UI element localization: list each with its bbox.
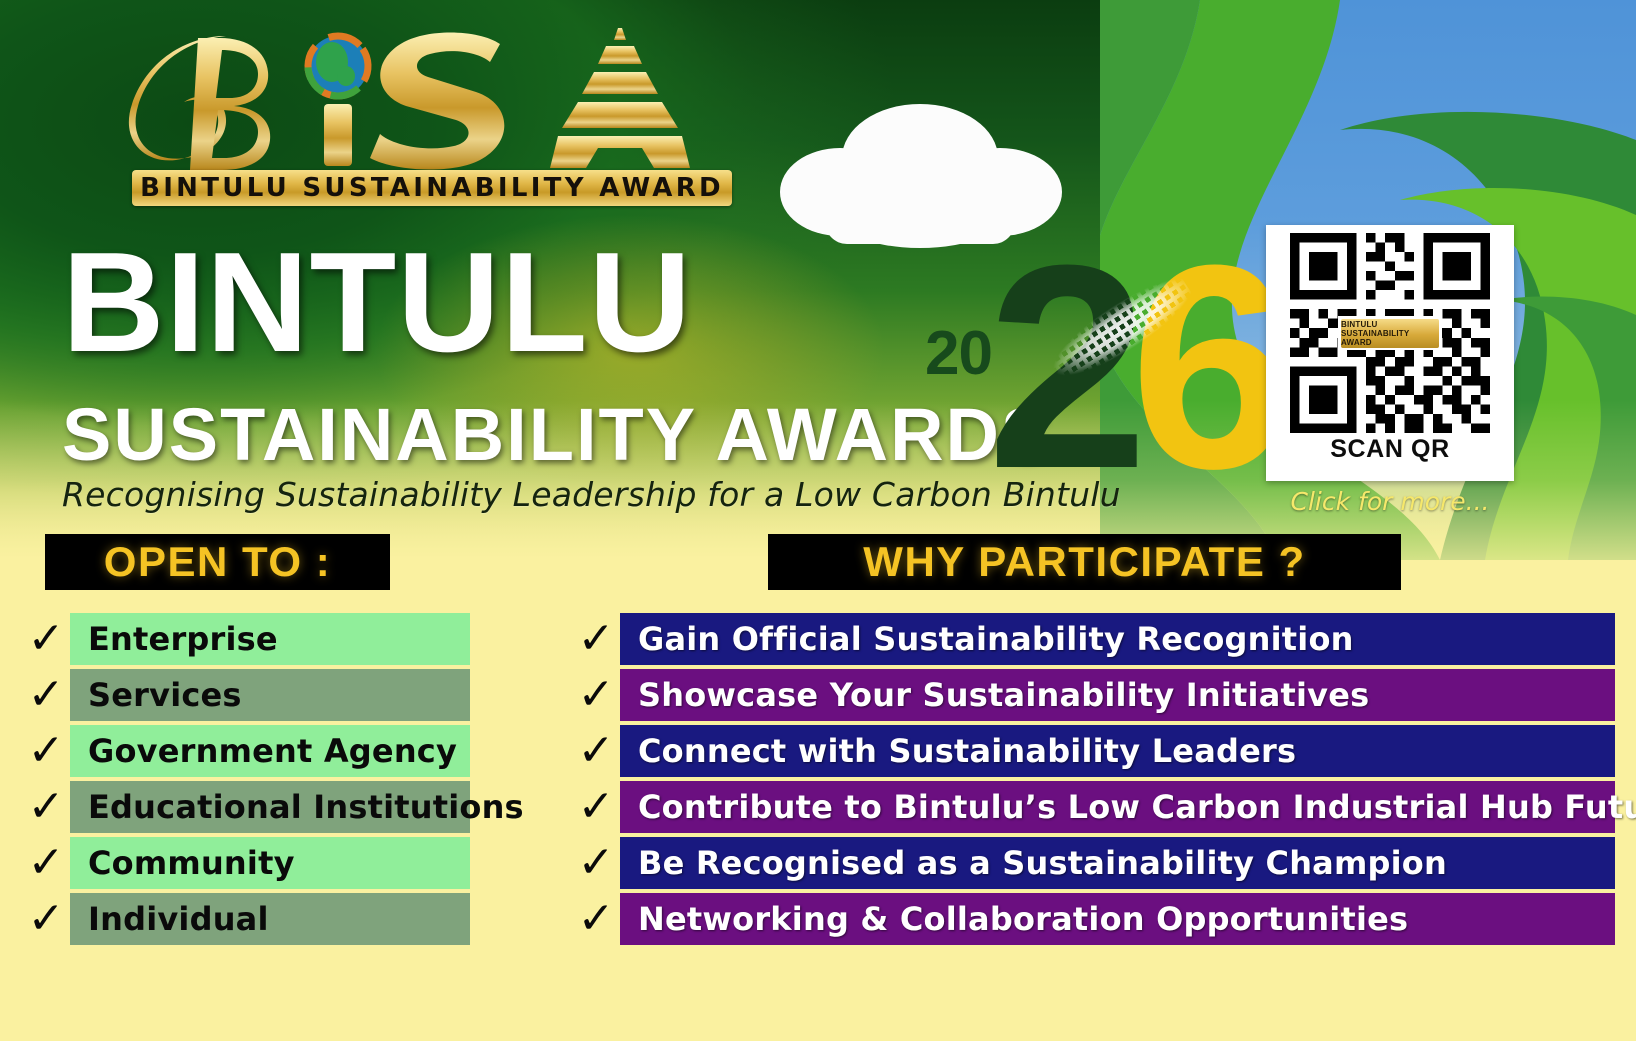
list-item-label: Enterprise <box>88 620 278 658</box>
year-digit-2: 2 <box>987 222 1138 512</box>
list-item: ✓Community <box>22 837 472 889</box>
why-participate-list: ✓Gain Official Sustainability Recognitio… <box>572 613 1617 949</box>
open-to-row-0: Enterprise <box>70 613 470 665</box>
why-participate-row-5: Networking & Collaboration Opportunities <box>620 893 1615 945</box>
list-item-label: Contribute to Bintulu’s Low Carbon Indus… <box>638 788 1636 826</box>
click-for-more-link[interactable]: Click for more... <box>1266 487 1514 516</box>
list-item: ✓Government Agency <box>22 725 472 777</box>
poster-canvas: BINTULU SUSTAINABILITY AWARD BINTULU SUS… <box>0 0 1636 1041</box>
page-title: BINTULU <box>62 228 692 378</box>
list-item: ✓Gain Official Sustainability Recognitio… <box>572 613 1617 665</box>
qr-center-logo-inner: BINTULU SUSTAINABILITY AWARD <box>1341 319 1439 348</box>
check-icon: ✓ <box>22 841 70 885</box>
why-participate-row-0: Gain Official Sustainability Recognition <box>620 613 1615 665</box>
check-icon: ✓ <box>22 729 70 773</box>
qr-code-image[interactable]: BINTULU SUSTAINABILITY AWARD <box>1285 233 1495 433</box>
why-participate-row-4: Be Recognised as a Sustainability Champi… <box>620 837 1615 889</box>
why-participate-row-1: Showcase Your Sustainability Initiatives <box>620 669 1615 721</box>
logo-wordmark-text: BINTULU SUSTAINABILITY AWARD <box>140 173 724 203</box>
open-to-heading-text: OPEN TO : <box>104 538 331 586</box>
list-item: ✓Educational Institutions <box>22 781 472 833</box>
qr-center-logo: BINTULU SUSTAINABILITY AWARD <box>1338 316 1442 350</box>
qr-code-card[interactable]: BINTULU SUSTAINABILITY AWARD SCAN QR <box>1266 225 1514 481</box>
list-item: ✓Enterprise <box>22 613 472 665</box>
open-to-row-2: Government Agency <box>70 725 470 777</box>
list-item: ✓Connect with Sustainability Leaders <box>572 725 1617 777</box>
qr-center-logo-text: BINTULU SUSTAINABILITY AWARD <box>1341 320 1439 347</box>
open-to-row-4: Community <box>70 837 470 889</box>
check-icon: ✓ <box>572 841 620 885</box>
year-digit-6: 6 <box>1130 222 1281 512</box>
open-to-row-3: Educational Institutions <box>70 781 470 833</box>
page-subtitle: SUSTAINABILITY AWARDS <box>62 395 1052 475</box>
why-participate-row-2: Connect with Sustainability Leaders <box>620 725 1615 777</box>
check-icon: ✓ <box>22 897 70 941</box>
list-item-label: Government Agency <box>88 732 457 770</box>
list-item: ✓Be Recognised as a Sustainability Champ… <box>572 837 1617 889</box>
list-item-label: Networking & Collaboration Opportunities <box>638 900 1408 938</box>
why-participate-row-3: Contribute to Bintulu’s Low Carbon Indus… <box>620 781 1615 833</box>
list-item-label: Connect with Sustainability Leaders <box>638 732 1296 770</box>
logo-wordmark-bar: BINTULU SUSTAINABILITY AWARD <box>132 170 732 206</box>
bisa-monogram-icon <box>70 22 690 172</box>
list-item: ✓Contribute to Bintulu’s Low Carbon Indu… <box>572 781 1617 833</box>
why-participate-heading-text: WHY PARTICIPATE ? <box>863 538 1305 586</box>
list-item-label: Educational Institutions <box>88 788 524 826</box>
check-icon: ✓ <box>572 673 620 717</box>
list-item: ✓Services <box>22 669 472 721</box>
check-icon: ✓ <box>572 617 620 661</box>
why-participate-heading-banner: WHY PARTICIPATE ? <box>768 534 1401 590</box>
list-item-label: Community <box>88 844 295 882</box>
check-icon: ✓ <box>22 785 70 829</box>
list-item-label: Be Recognised as a Sustainability Champi… <box>638 844 1447 882</box>
list-item: ✓Individual <box>22 893 472 945</box>
year-lockup: 2 6 20 <box>915 240 1215 490</box>
check-icon: ✓ <box>572 729 620 773</box>
check-icon: ✓ <box>22 617 70 661</box>
open-to-heading-banner: OPEN TO : <box>45 534 390 590</box>
list-item: ✓Networking & Collaboration Opportunitie… <box>572 893 1617 945</box>
open-to-row-1: Services <box>70 669 470 721</box>
open-to-row-5: Individual <box>70 893 470 945</box>
list-item-label: Showcase Your Sustainability Initiatives <box>638 676 1369 714</box>
qr-caption: SCAN QR <box>1330 435 1449 464</box>
list-item: ✓Showcase Your Sustainability Initiative… <box>572 669 1617 721</box>
list-item-label: Gain Official Sustainability Recognition <box>638 620 1354 658</box>
check-icon: ✓ <box>22 673 70 717</box>
list-item-label: Individual <box>88 900 269 938</box>
open-to-list: ✓Enterprise✓Services✓Government Agency✓E… <box>22 613 472 949</box>
list-item-label: Services <box>88 676 242 714</box>
year-prefix-20: 20 <box>925 318 992 389</box>
bisa-logo[interactable]: BINTULU SUSTAINABILITY AWARD <box>70 22 690 217</box>
check-icon: ✓ <box>572 897 620 941</box>
check-icon: ✓ <box>572 785 620 829</box>
